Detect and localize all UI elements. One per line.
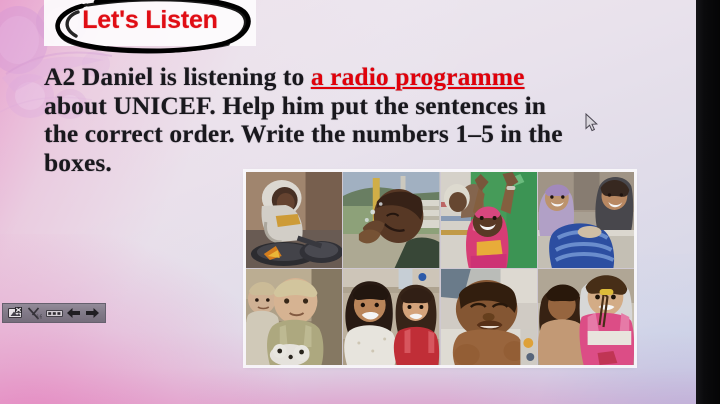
powerpoint-slideshow-toolbar[interactable]: 16 [2, 303, 106, 323]
page-title: Let's Listen [44, 6, 256, 35]
collage-photo-4 [538, 172, 634, 268]
collage-photo-6 [343, 269, 439, 365]
slide-menu-icon[interactable] [46, 306, 63, 321]
instruction-line3: the correct order. Write the numbers 1–5… [44, 119, 563, 148]
pointer-options-icon[interactable] [7, 306, 23, 321]
screen-bezel-right [696, 0, 720, 404]
slide-title-group: Let's Listen [44, 0, 256, 54]
instruction-highlight: a radio programme [311, 62, 525, 91]
collage-photo-2 [343, 172, 439, 268]
next-slide-icon[interactable] [85, 306, 101, 321]
instruction-line1-part1: A2 Daniel is listening to [44, 62, 311, 91]
collage-photo-8 [538, 269, 634, 365]
instruction-line4: boxes. [44, 148, 112, 177]
unicef-children-photo-collage [246, 172, 634, 365]
screen: Let's Listen A2 Daniel is listening to a… [0, 0, 720, 404]
collage-photo-5 [246, 269, 342, 365]
svg-text:16: 16 [36, 314, 42, 319]
previous-slide-icon[interactable] [66, 306, 82, 321]
exercise-instruction-text: A2 Daniel is listening to a radio progra… [44, 63, 674, 177]
collage-photo-7 [441, 269, 537, 365]
instruction-line2: about UNICEF. Help him put the sentences… [44, 91, 546, 120]
pen-icon[interactable]: 16 [26, 306, 42, 321]
collage-photo-3 [441, 172, 537, 268]
collage-photo-1 [246, 172, 342, 268]
